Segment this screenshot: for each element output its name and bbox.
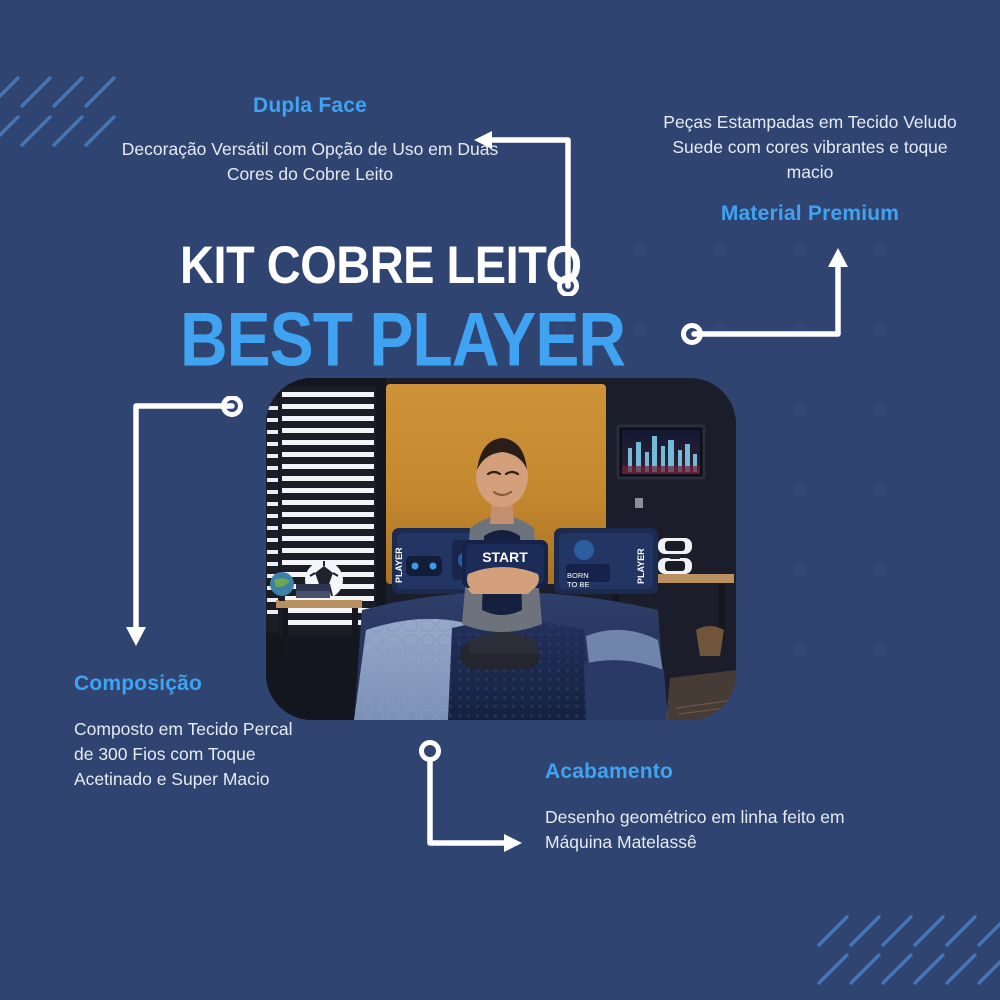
feature-composicao-body: Composto em Tecido Percal de 300 Fios co… [74,717,309,792]
svg-text:BORN: BORN [567,571,589,580]
feature-material-premium-heading: Material Premium [650,202,970,225]
svg-text:PLAYER: PLAYER [394,547,404,583]
feature-acabamento-body: Desenho geométrico em linha feito em Máq… [545,805,895,855]
svg-text:TO BE: TO BE [567,580,589,589]
feature-material-premium: Peças Estampadas em Tecido Veludo Suede … [650,110,970,225]
pillow-text: START [482,549,528,565]
connector-arrow-down-icon [122,396,247,656]
feature-acabamento-heading: Acabamento [545,760,895,783]
feature-acabamento: Acabamento Desenho geométrico em linha f… [545,760,895,855]
title-line-2: BEST PLAYER [180,301,700,377]
connector-arrow-right-icon [418,740,528,855]
page-title: KIT COBRE LEITO BEST PLAYER [180,238,700,367]
feature-dupla-face-heading: Dupla Face [120,94,500,117]
product-photo: PLAYER BORN TO BE PLAYER [266,378,736,720]
svg-text:PLAYER: PLAYER [636,548,646,584]
feature-material-premium-body: Peças Estampadas em Tecido Veludo Suede … [650,110,970,185]
feature-dupla-face: Dupla Face Decoração Versátil com Opção … [120,94,500,187]
title-line-1: KIT COBRE LEITO [180,238,700,291]
feature-dupla-face-body: Decoração Versátil com Opção de Uso em D… [120,137,500,187]
connector-arrow-up-icon [680,243,855,348]
stripes-bottom-right [805,905,1000,995]
feature-composicao: Composição Composto em Tecido Percal de … [74,672,309,792]
feature-composicao-heading: Composição [74,672,309,695]
stripes-top-left [0,60,138,165]
